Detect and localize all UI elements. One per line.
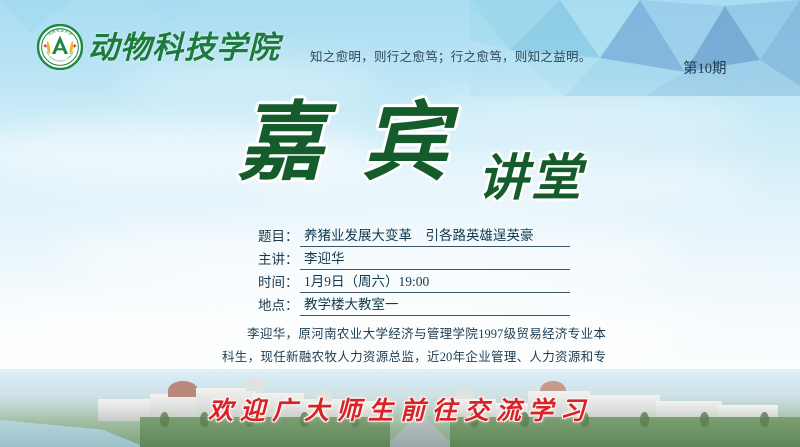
- campus-dome: [246, 378, 264, 391]
- university-emblem-icon: 河南农业大学 HENAN AGRICULTURAL UNIVERSITY: [37, 24, 83, 70]
- field-value-speaker: 李迎华: [300, 247, 570, 270]
- field-label-topic: 题目：: [258, 225, 300, 247]
- field-value-time: 1月9日（周六）19:00: [300, 270, 570, 293]
- issue-number: 第10期: [683, 57, 727, 78]
- field-label-location: 地点：: [258, 294, 300, 316]
- title-main-text: 嘉宾: [208, 92, 486, 194]
- field-label-time: 时间：: [258, 271, 300, 293]
- welcome-banner-text: 欢迎广大师生前往交流学习: [0, 391, 800, 427]
- poster-header: 河南农业大学 HENAN AGRICULTURAL UNIVERSITY 动物科…: [0, 0, 800, 92]
- university-motto: 知之愈明，则行之愈笃；行之愈笃，则知之益明。: [310, 46, 592, 65]
- field-value-location: 教学楼大教室一: [300, 293, 570, 316]
- college-name: 动物科技学院: [88, 26, 304, 70]
- field-label-speaker: 主讲：: [258, 248, 300, 270]
- poster-canvas: 河南农业大学 HENAN AGRICULTURAL UNIVERSITY 动物科…: [0, 0, 800, 447]
- lecture-info-fields: 题目： 养猪业发展大变革 引各路英雄逞英豪 主讲： 李迎华 时间： 1月9日（周…: [258, 226, 570, 318]
- campus-photo: 欢迎广大师生前往交流学习: [0, 369, 800, 447]
- title-sub-text: 讲堂: [478, 148, 584, 208]
- field-value-topic: 养猪业发展大变革 引各路英雄逞英豪: [300, 224, 570, 247]
- college-name-text: 动物科技学院: [88, 30, 280, 65]
- field-row-location: 地点： 教学楼大教室一: [258, 295, 570, 316]
- field-row-speaker: 主讲： 李迎华: [258, 249, 570, 270]
- lecture-series-title: 嘉宾讲堂: [0, 92, 800, 207]
- field-row-time: 时间： 1月9日（周六）19:00: [258, 272, 570, 293]
- field-row-topic: 题目： 养猪业发展大变革 引各路英雄逞英豪: [258, 226, 570, 247]
